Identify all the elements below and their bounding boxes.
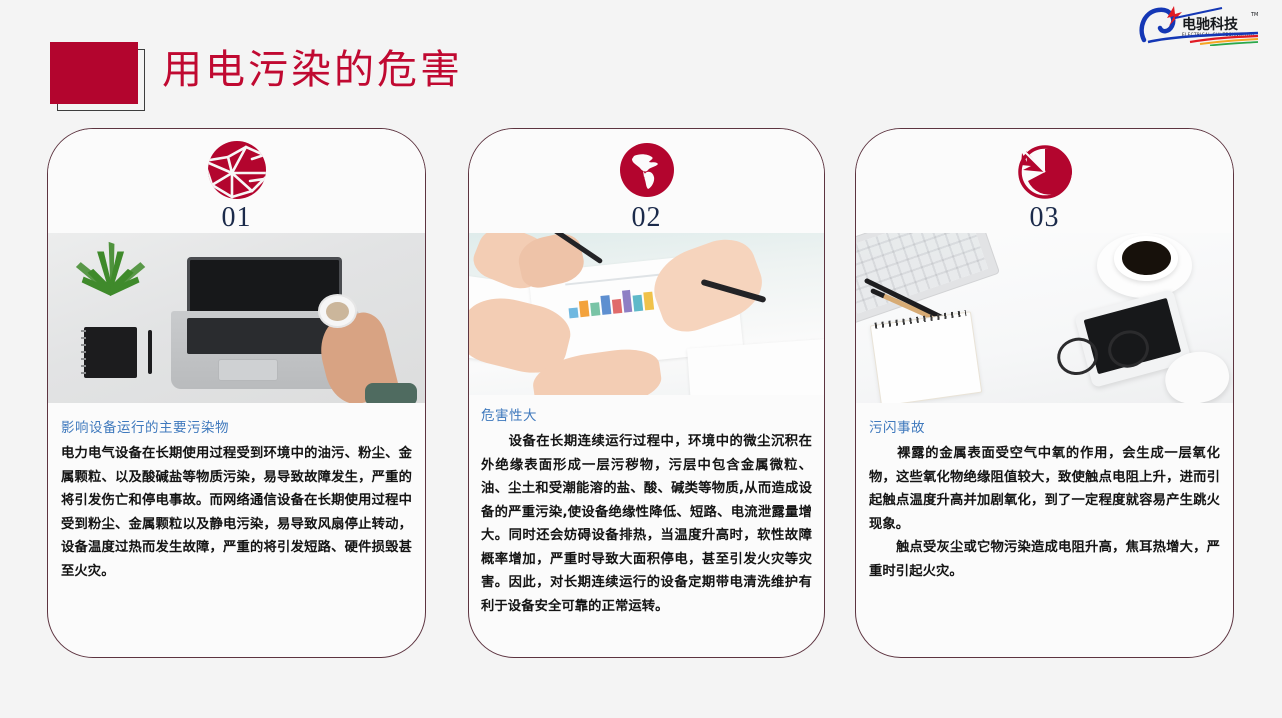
- laptop-trackpad: [218, 359, 278, 381]
- page-title: 用电污染的危害: [162, 34, 463, 106]
- card-subtitle-03: 污闪事故: [869, 417, 1220, 439]
- coffee-liquid: [1122, 241, 1171, 275]
- logo-trademark: TM: [1250, 12, 1258, 18]
- desk-laptop-coffee-photo: [48, 233, 425, 403]
- sleeve: [365, 383, 418, 403]
- page-header: 用电污染的危害: [0, 30, 700, 120]
- content-card-02[interactable]: 02 危害性大: [468, 128, 825, 658]
- cracked-globe-icon: [206, 139, 268, 201]
- card-body-02: 危害性大 设备在长期连续运行过程中，环境中的微尘沉积在外绝缘表面形成一层污秽物，…: [469, 395, 824, 618]
- notepad: [870, 311, 982, 403]
- card-body-03: 污闪事故 裸露的金属表面受空气中氧的作用，会生成一层氧化物，这些氧化物绝缘阻值较…: [856, 403, 1233, 583]
- card-number-03: 03: [1030, 203, 1060, 233]
- logo-brand-cn: 电驰科技: [1182, 16, 1239, 33]
- card-header-02: 02: [469, 129, 824, 233]
- card-header-03: 03: [856, 129, 1233, 233]
- paper-sheet: [687, 338, 824, 395]
- notebook: [84, 327, 137, 378]
- laptop-keyboard: [187, 318, 342, 354]
- pen: [148, 330, 152, 374]
- content-card-03[interactable]: 03 污闪事故 裸露的金属表面受空气中氧的作用，会生成一层氧化物，这些氧化物绝缘…: [855, 128, 1234, 658]
- plant-decor: [71, 240, 150, 298]
- brand-logo: 电驰科技 ELECTRICAL CHI TECHNOLOGY TM: [1134, 2, 1274, 46]
- card-body-01: 影响设备运行的主要污染物 电力电气设备在长期使用过程受到环境中的油污、粉尘、金属…: [48, 403, 425, 583]
- card-subtitle-02: 危害性大: [481, 405, 812, 427]
- coffee-cup: [318, 294, 358, 328]
- team-charts-hands-photo: [469, 233, 824, 395]
- card-subtitle-01: 影响设备运行的主要污染物: [61, 417, 412, 439]
- content-card-01[interactable]: 01: [47, 128, 426, 658]
- card-number-02: 02: [632, 203, 662, 233]
- card-number-01: 01: [222, 203, 252, 233]
- card-paragraph-03-1: 裸露的金属表面受空气中氧的作用，会生成一层氧化物，这些氧化物绝缘阻值较大，致使触…: [869, 442, 1220, 536]
- title-accent-block: [50, 42, 138, 104]
- card-paragraph-02-1: 设备在长期连续运行过程中，环境中的微尘沉积在外绝缘表面形成一层污秽物，污层中包含…: [481, 430, 812, 618]
- card-paragraph-03-2: 触点受灰尘或它物污染造成电阻升高，焦耳热增大，严重时引起火灾。: [869, 536, 1220, 583]
- card-header-01: 01: [48, 129, 425, 233]
- white-desk-phone-coffee-photo: [856, 233, 1233, 403]
- brand-logo-svg: 电驰科技 ELECTRICAL CHI TECHNOLOGY TM: [1134, 2, 1274, 46]
- globe-americas-icon: [616, 139, 678, 201]
- card-paragraph-01-1: 电力电气设备在长期使用过程受到环境中的油污、粉尘、金属颗粒、以及酸碱盐等物质污染…: [61, 442, 412, 583]
- pie-arrow-icon: [1014, 139, 1076, 201]
